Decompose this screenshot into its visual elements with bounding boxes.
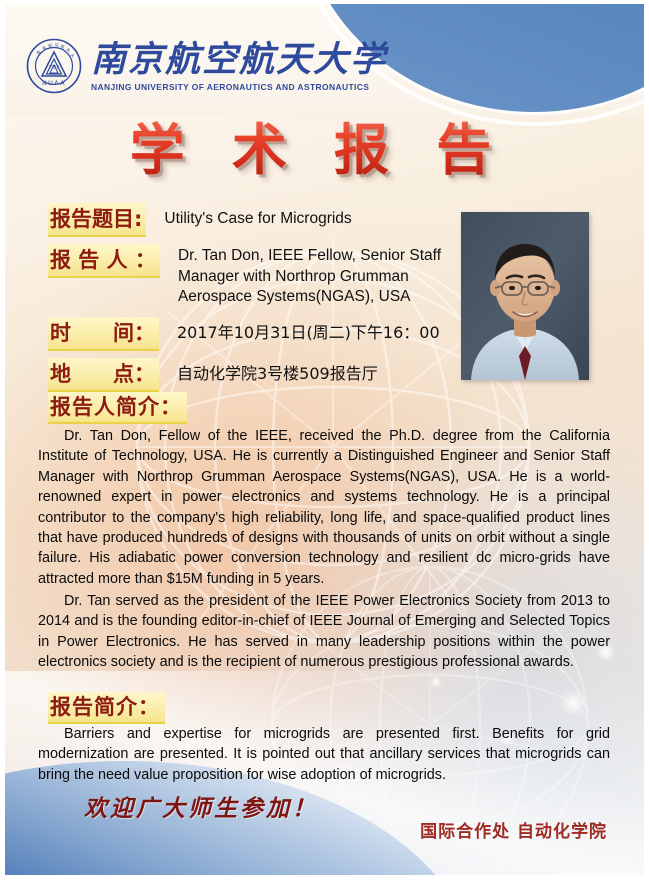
bio-paragraph-1-text: Dr. Tan Don, Fellow of the IEEE, receive… [38, 428, 610, 587]
abstract-paragraph-text: Barriers and expertise for microgrids ar… [38, 726, 610, 783]
time-value: 2017年10月31日(周二)下午16：00 [159, 317, 608, 344]
university-name-cn: 南京航空航天大学 [91, 41, 387, 79]
topic-label: 报告题目: [48, 203, 146, 237]
welcome-message: 欢迎广大师生参加！ [84, 794, 318, 824]
poster-content: 1952 NUAA 南 京 航 空 航 天 大 南京航空航天大学 NANJING… [0, 0, 649, 881]
abstract-section-heading-wrap: 报告简介： [48, 692, 165, 724]
info-row-speaker: 报 告 人 ： Dr. Tan Don, IEEE Fellow, Senior… [48, 244, 608, 308]
bio-paragraph-1: Dr. Tan Don, Fellow of the IEEE, receive… [38, 426, 610, 589]
place-value: 自动化学院3号楼509报告厅 [159, 358, 608, 385]
abstract-paragraph: Barriers and expertise for microgrids ar… [38, 724, 610, 785]
event-info-block: 报告题目: Utility's Case for Microgrids 报 告 … [48, 203, 608, 396]
university-header: 1952 NUAA 南 京 航 空 航 天 大 南京航空航天大学 NANJING… [26, 38, 387, 94]
svg-text:1952: 1952 [49, 65, 60, 70]
bio-section-heading-wrap: 报告人简介： [48, 392, 187, 424]
speaker-label: 报 告 人 ： [48, 244, 160, 278]
university-seal-icon: 1952 NUAA 南 京 航 空 航 天 大 [26, 38, 82, 94]
time-label: 时 间： [48, 317, 159, 351]
topic-value: Utility's Case for Microgrids [146, 203, 608, 229]
university-name-en: NANJING UNIVERSITY OF AERONAUTICS AND AS… [91, 82, 393, 92]
svg-text:航: 航 [60, 43, 65, 50]
university-name-block: 南京航空航天大学 NANJING UNIVERSITY OF AERONAUTI… [91, 41, 387, 92]
info-row-place: 地 点： 自动化学院3号楼509报告厅 [48, 358, 608, 392]
svg-text:空: 空 [55, 41, 60, 47]
place-label: 地 点： [48, 358, 159, 392]
poster-title: 学 术 报 告 [0, 120, 649, 180]
abstract-heading: 报告简介： [48, 692, 165, 724]
info-row-topic: 报告题目: Utility's Case for Microgrids [48, 203, 608, 237]
speaker-value: Dr. Tan Don, IEEE Fellow, Senior Staff M… [160, 244, 450, 308]
bio-paragraph-2: Dr. Tan served as the president of the I… [38, 591, 610, 673]
poster-title-text: 学 术 报 告 [130, 120, 519, 180]
svg-text:京: 京 [40, 44, 47, 51]
organizers: 国际合作处 自动化学院 [420, 820, 607, 844]
bio-heading: 报告人简介： [48, 392, 187, 424]
poster-canvas: 1952 NUAA 南 京 航 空 航 天 大 南京航空航天大学 NANJING… [0, 0, 649, 881]
svg-text:南: 南 [35, 49, 42, 56]
svg-text:NUAA: NUAA [42, 79, 66, 87]
bio-paragraph-2-text: Dr. Tan served as the president of the I… [38, 593, 610, 670]
info-row-time: 时 间： 2017年10月31日(周二)下午16：00 [48, 317, 608, 351]
